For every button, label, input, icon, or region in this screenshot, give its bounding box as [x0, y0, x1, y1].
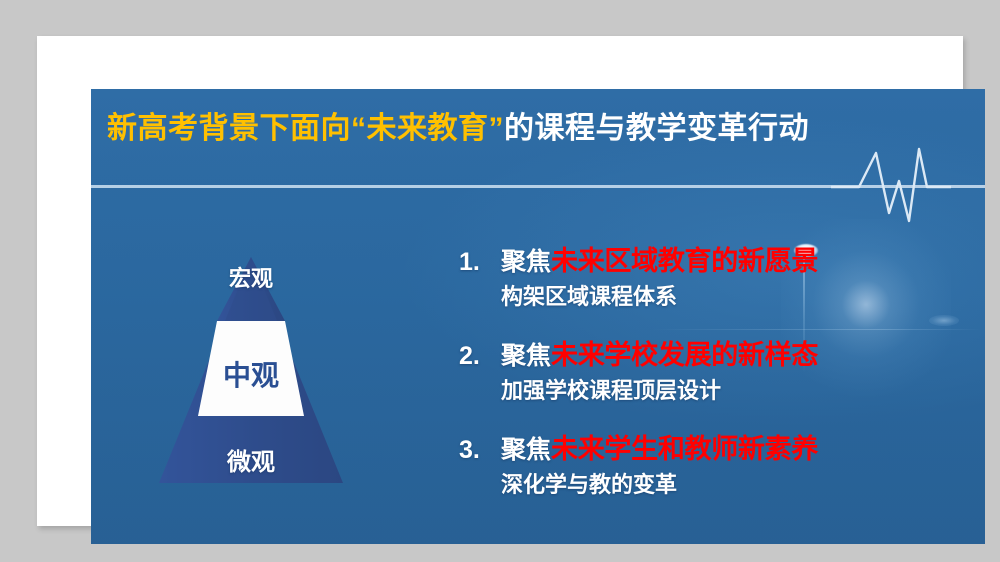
title-divider-rule	[91, 185, 985, 188]
list-item-subtitle: 加强学校课程顶层设计	[501, 373, 979, 405]
list-item-number: 3.	[459, 436, 501, 465]
pyramid-label-bottom: 微观	[91, 442, 411, 477]
list-item-headline: 2. 聚焦 未来学校发展的新样态	[459, 333, 979, 372]
pyramid-label-top: 宏观	[91, 261, 411, 293]
list-item-number: 1.	[459, 248, 501, 277]
focus-points-list: 1. 聚焦 未来区域教育的新愿景 构架区域课程体系 2. 聚焦 未来学校发展的新…	[459, 239, 979, 521]
slide-title-gold-part: 新高考背景下面向“未来教育”	[107, 112, 504, 145]
list-item-lead: 聚焦	[501, 430, 551, 466]
list-item-headline: 3. 聚焦 未来学生和教师新素养	[459, 427, 979, 466]
list-item: 1. 聚焦 未来区域教育的新愿景 构架区域课程体系	[459, 239, 979, 311]
pyramid-diagram: 宏观 中观 微观	[91, 199, 411, 489]
list-item-lead: 聚焦	[501, 336, 551, 372]
list-item: 3. 聚焦 未来学生和教师新素养 深化学与教的变革	[459, 427, 979, 499]
screenshot-root: 新高考背景下面向“未来教育”的课程与教学变革行动	[0, 0, 1000, 562]
list-item-number: 2.	[459, 342, 501, 371]
list-item-subtitle: 构架区域课程体系	[501, 279, 979, 311]
slide-paper-frame: 新高考背景下面向“未来教育”的课程与教学变革行动	[37, 36, 963, 526]
slide-title-white-part: 的课程与教学变革行动	[504, 112, 809, 145]
list-item-subtitle: 深化学与教的变革	[501, 467, 979, 499]
list-item-highlight: 未来学生和教师新素养	[551, 427, 818, 466]
list-item-lead: 聚焦	[501, 242, 551, 278]
presentation-slide: 新高考背景下面向“未来教育”的课程与教学变革行动	[91, 89, 985, 544]
list-item: 2. 聚焦 未来学校发展的新样态 加强学校课程顶层设计	[459, 333, 979, 405]
list-item-headline: 1. 聚焦 未来区域教育的新愿景	[459, 239, 979, 278]
slide-title: 新高考背景下面向“未来教育”的课程与教学变革行动	[107, 111, 967, 147]
pyramid-label-middle: 中观	[91, 354, 411, 394]
list-item-highlight: 未来区域教育的新愿景	[551, 239, 818, 278]
list-item-highlight: 未来学校发展的新样态	[551, 333, 818, 372]
